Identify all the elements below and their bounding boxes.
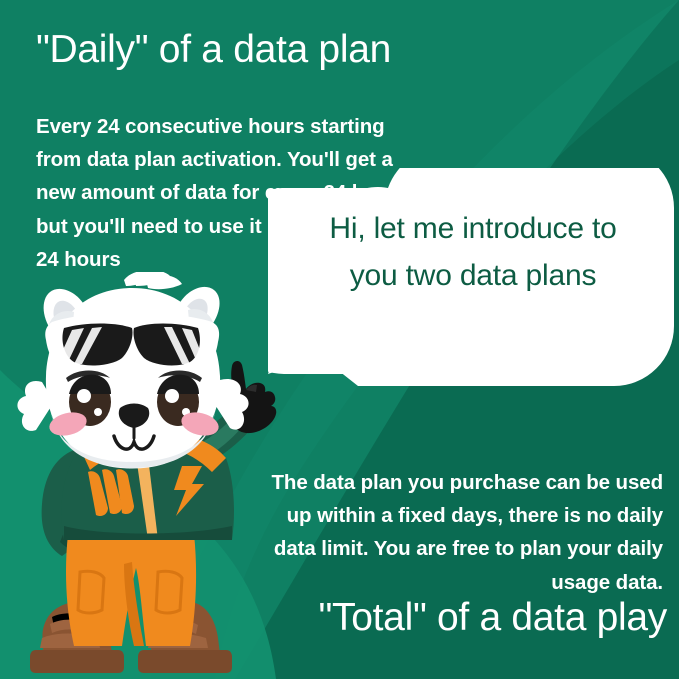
mascot-pants — [66, 534, 196, 646]
page-title-daily: "Daily" of a data plan — [36, 30, 466, 71]
description-total: The data plan you purchase can be used u… — [243, 466, 663, 599]
speech-bubble: Hi, let me introduce to you two data pla… — [268, 168, 674, 390]
poster-root: "Daily" of a data plan Every 24 consecut… — [0, 0, 679, 679]
speech-bubble-text: Hi, let me introduce to you two data pla… — [308, 206, 638, 299]
page-title-total: "Total" of a data play — [197, 598, 667, 639]
